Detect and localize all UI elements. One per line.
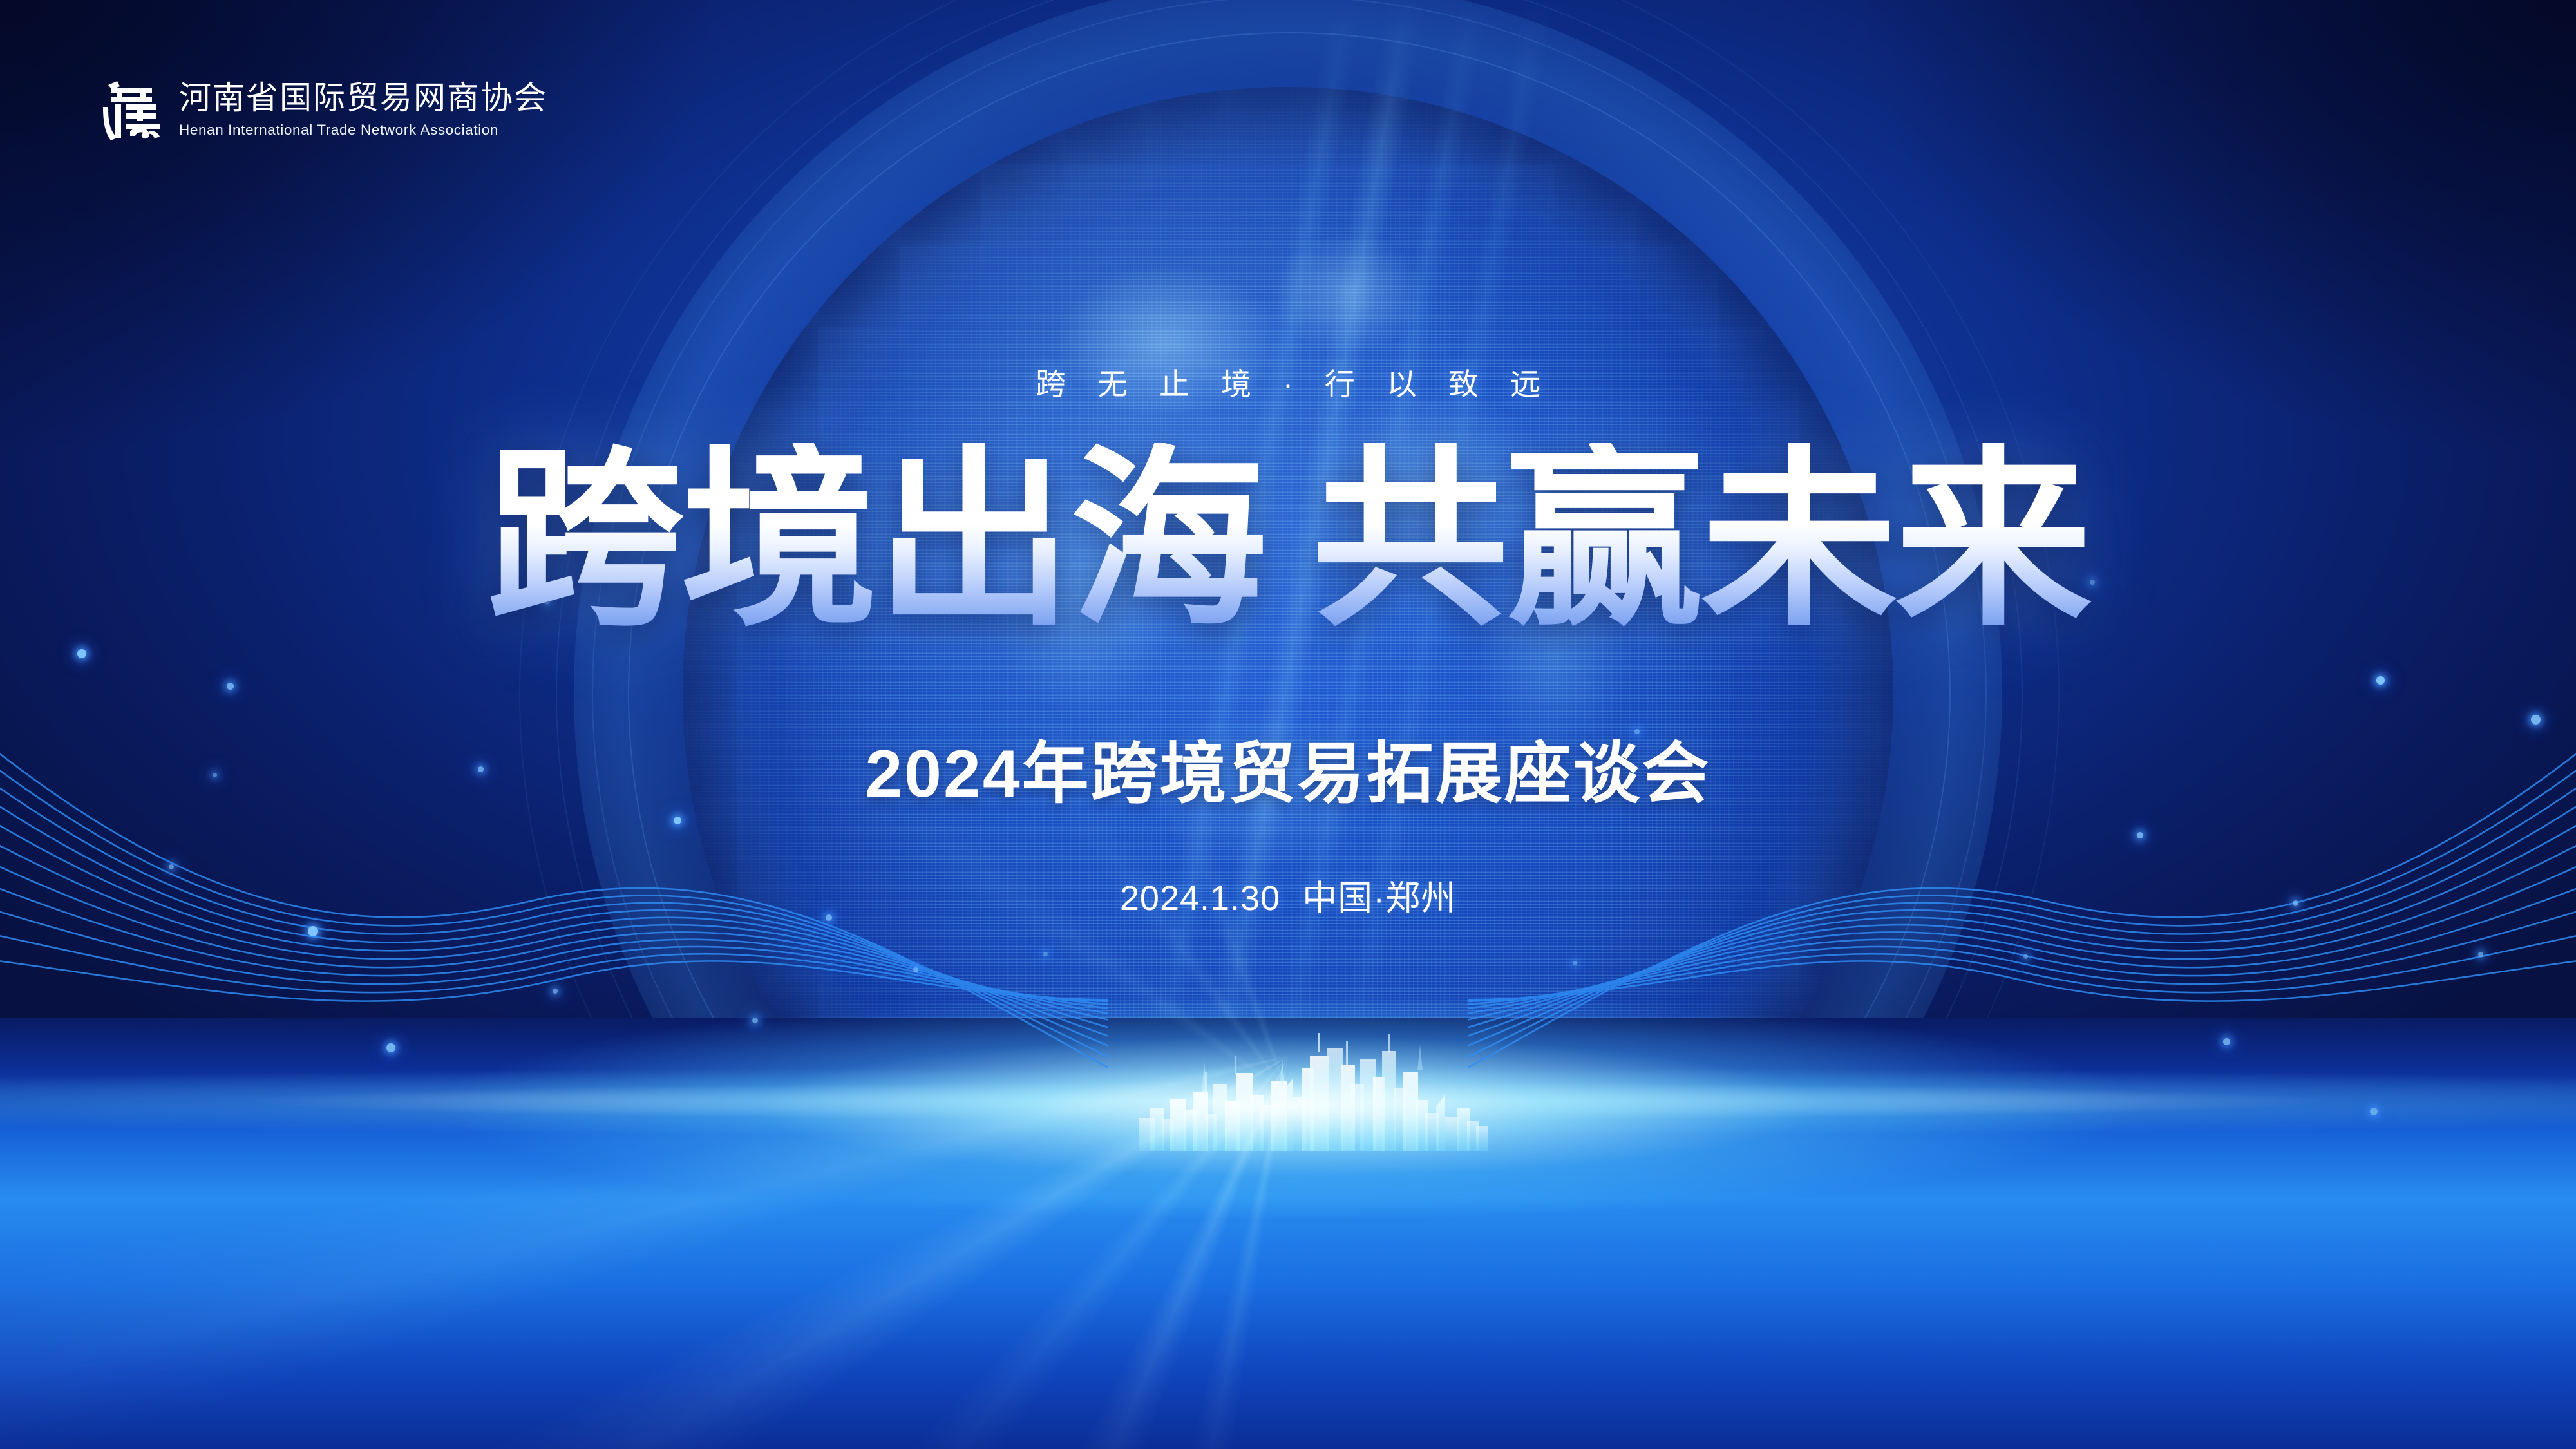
event-subtitle: 2024年跨境贸易拓展座谈会 — [0, 741, 2576, 808]
brand-logo-text: 河南省国际贸易网商协会 Henan International Trade Ne… — [179, 79, 547, 139]
event-info: 2024.1.30中国·郑州 — [0, 881, 2576, 916]
tagline: 跨 无 止 境 · 行 以 致 远 — [0, 359, 2576, 404]
event-date: 2024.1.30 — [1120, 879, 1280, 918]
wave-ribbon-lines-icon — [0, 618, 1108, 1108]
city-skyline-icon — [1133, 1023, 1494, 1151]
headline-part-1: 跨境出海 — [487, 431, 1265, 648]
wave-ribbon-lines-mirror-icon — [1468, 618, 2576, 1108]
headline: 跨境出海共赢未来 — [0, 443, 2576, 636]
henan-seal-logo-icon — [98, 76, 165, 143]
event-location: 中国·郑州 — [1302, 879, 1456, 918]
headline-part-2: 共赢未来 — [1312, 431, 2090, 648]
poster-canvas: 河南省国际贸易网商协会 Henan International Trade Ne… — [0, 0, 2576, 1449]
brand-name-cn: 河南省国际贸易网商协会 — [179, 79, 547, 117]
brand-logo[interactable]: 河南省国际贸易网商协会 Henan International Trade Ne… — [98, 76, 547, 143]
brand-name-en: Henan International Trade Network Associ… — [179, 120, 547, 139]
